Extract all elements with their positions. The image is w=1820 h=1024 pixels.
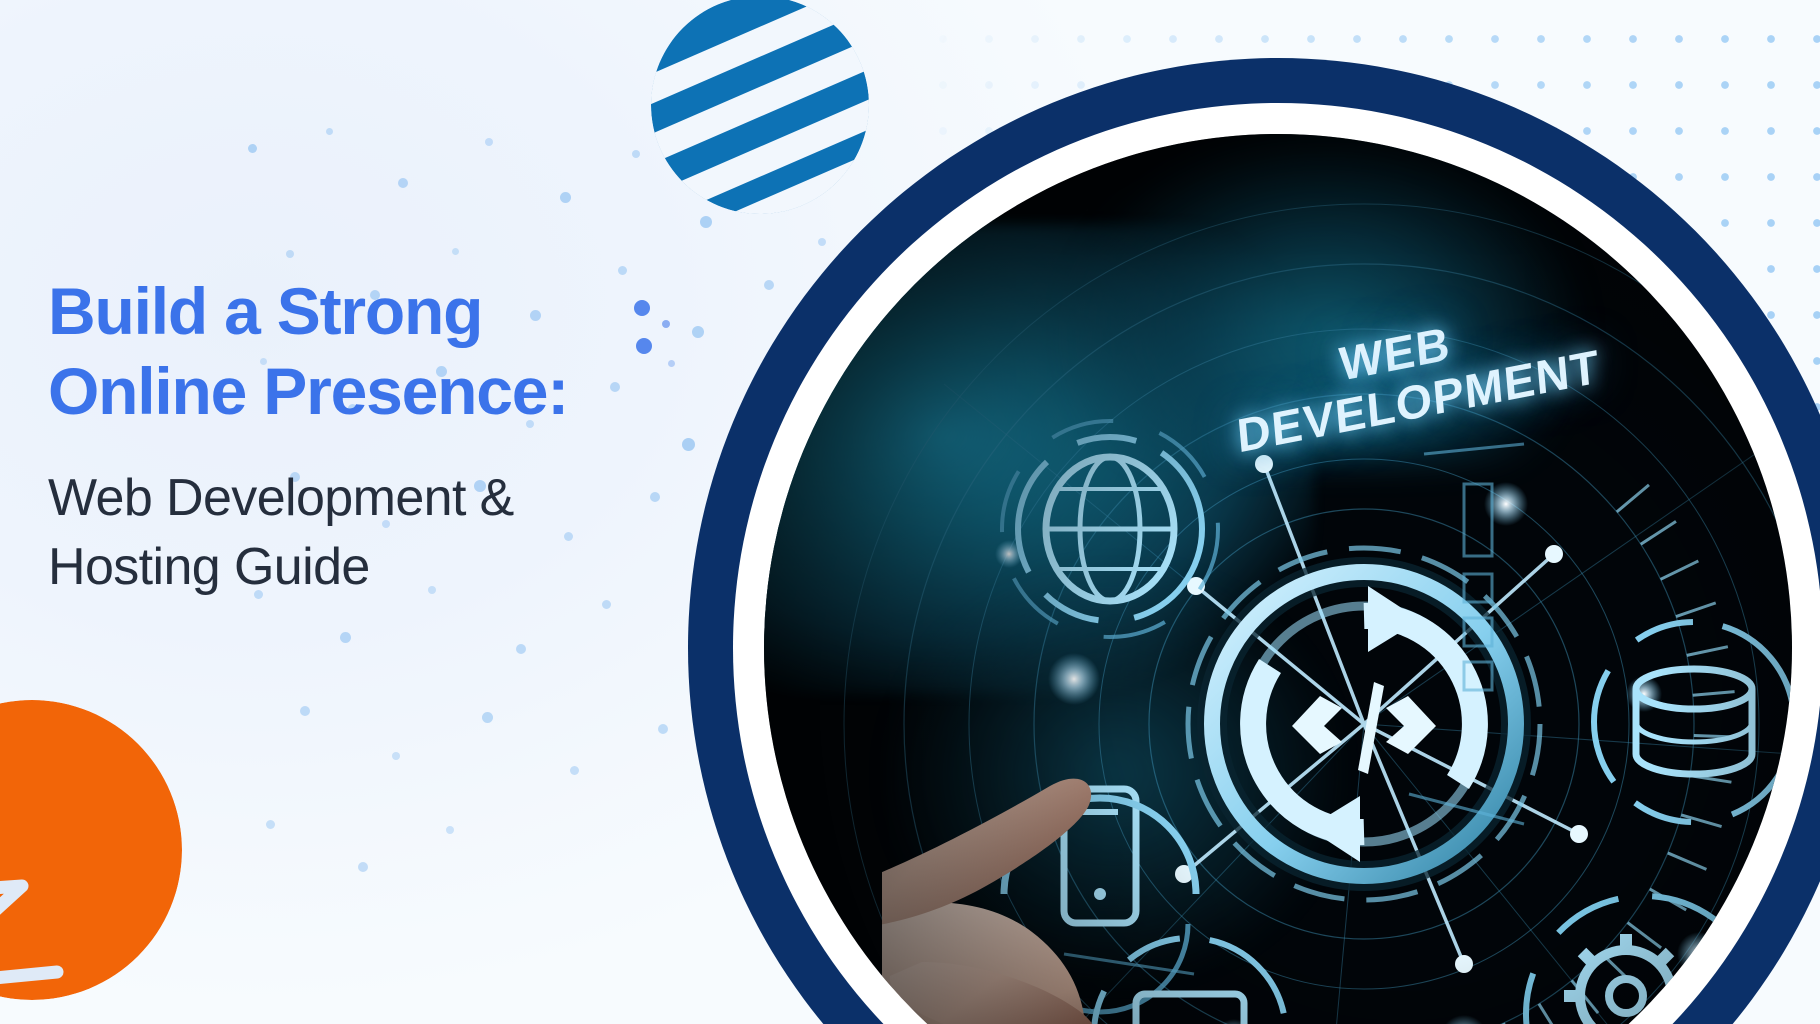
- hero-media-ring: WEB DEVELOPMENT: [688, 58, 1820, 1024]
- page-subtitle: Web Development & Hosting Guide: [48, 464, 738, 602]
- hero-banner: WEB DEVELOPMENT Build a Strong Online Pr…: [0, 0, 1820, 1024]
- hero-photo: WEB DEVELOPMENT: [764, 134, 1792, 1024]
- orange-ribbon-circle-icon: [0, 700, 182, 1000]
- page-title: Build a Strong Online Presence:: [48, 272, 738, 432]
- hero-copy: Build a Strong Online Presence: Web Deve…: [48, 272, 738, 602]
- hero-media-white-ring: WEB DEVELOPMENT: [733, 103, 1820, 1024]
